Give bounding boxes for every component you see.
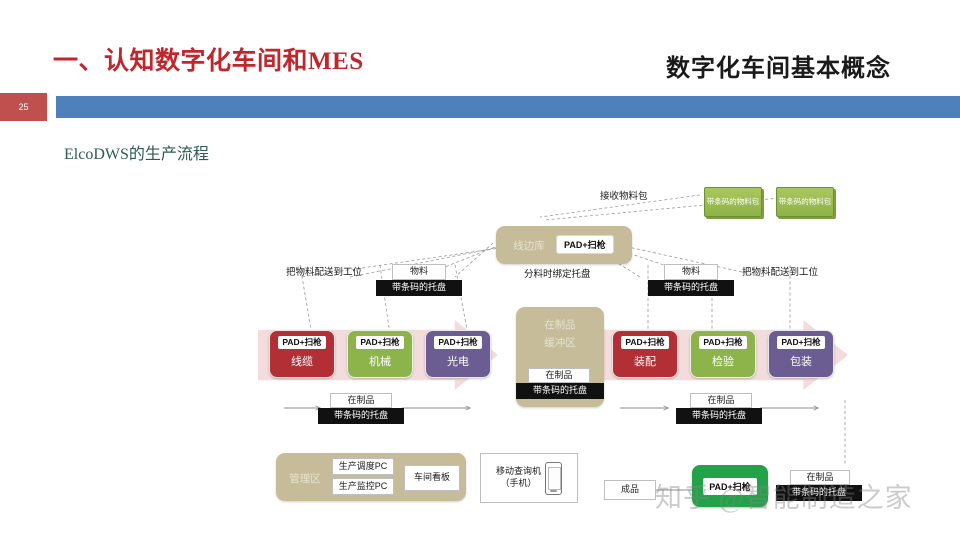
workshop-kanban[interactable]: 车间看板 (404, 465, 460, 491)
receive-package-label: 接收物料包 (600, 191, 648, 203)
material-package-2: 带条码的物料包 (776, 187, 834, 217)
wip-left-item: 在制品 (330, 393, 392, 408)
management-zone-label: 管理区 (283, 471, 327, 486)
material-package-2-label: 带条码的物料包 (779, 197, 832, 206)
page-number-badge: 25 (0, 93, 47, 121)
station-cable-name: 线缆 (291, 353, 313, 369)
warehouse-pad-scanner-label: PAD+扫枪 (564, 238, 606, 251)
wip-buffer-pallet: 带条码的托盘 (516, 383, 604, 399)
right-feed-caption: 把物料配送到工位 (742, 267, 818, 279)
station-mechanical-pad: PAD+扫枪 (356, 336, 403, 349)
finished-goods: 成品 (604, 480, 656, 500)
station-cable[interactable]: PAD+扫枪 线缆 (269, 330, 335, 378)
header-rule (56, 96, 960, 118)
watermark: 知乎 @智能制造之家 (655, 476, 913, 515)
warehouse-pad-scanner: PAD+扫枪 (556, 235, 614, 254)
station-packaging-name: 包装 (790, 353, 812, 369)
slide-root: 一、认知数字化车间和MES 数字化车间基本概念 25 ElcoDWS的生产流程 (0, 0, 960, 540)
station-assembly-name: 装配 (634, 353, 656, 369)
station-photoelectric[interactable]: PAD+扫枪 光电 (425, 330, 491, 378)
station-assembly-pad: PAD+扫枪 (621, 336, 668, 349)
mobile-query-label-2: （手机） (500, 478, 536, 490)
scheduling-pc[interactable]: 生产调度PC (332, 458, 394, 475)
left-feed-pallet: 带条码的托盘 (376, 280, 462, 296)
wip-right-item: 在制品 (690, 393, 752, 408)
wip-left-pallet: 带条码的托盘 (318, 408, 404, 424)
station-mechanical[interactable]: PAD+扫枪 机械 (347, 330, 413, 378)
material-package-1-label: 带条码的物料包 (707, 197, 760, 206)
wip-buffer-title-2: 缓冲区 (516, 335, 604, 350)
left-feed-material: 物料 (392, 264, 446, 280)
station-photoelectric-name: 光电 (447, 353, 469, 369)
mobile-query-label-1: 移动查询机 (496, 466, 541, 478)
wip-buffer-item: 在制品 (528, 368, 590, 383)
page-title: 一、认知数字化车间和MES (53, 41, 364, 77)
station-inspection-name: 检验 (712, 353, 734, 369)
right-feed-material: 物料 (664, 264, 718, 280)
warehouse-caption: 分料时绑定托盘 (524, 269, 591, 281)
station-cable-pad: PAD+扫枪 (278, 336, 325, 349)
section-title: 数字化车间基本概念 (666, 48, 891, 83)
station-mechanical-name: 机械 (369, 353, 391, 369)
mobile-query-box: 移动查询机 （手机） (480, 453, 578, 503)
station-assembly[interactable]: PAD+扫枪 装配 (612, 330, 678, 378)
monitoring-pc[interactable]: 生产监控PC (332, 478, 394, 495)
subtitle: ElcoDWS的生产流程 (64, 140, 209, 164)
station-inspection[interactable]: PAD+扫枪 检验 (690, 330, 756, 378)
wip-buffer-title-1: 在制品 (516, 317, 604, 332)
station-packaging[interactable]: PAD+扫枪 包装 (768, 330, 834, 378)
station-packaging-pad: PAD+扫枪 (777, 336, 824, 349)
station-photoelectric-pad: PAD+扫枪 (434, 336, 481, 349)
station-inspection-pad: PAD+扫枪 (699, 336, 746, 349)
material-package-1: 带条码的物料包 (704, 187, 762, 217)
wip-right-pallet: 带条码的托盘 (676, 408, 762, 424)
line-side-warehouse-label: 线边库 (506, 238, 552, 253)
mobile-phone-icon (545, 462, 562, 495)
left-feed-caption: 把物料配送到工位 (286, 267, 362, 279)
right-feed-pallet: 带条码的托盘 (648, 280, 734, 296)
